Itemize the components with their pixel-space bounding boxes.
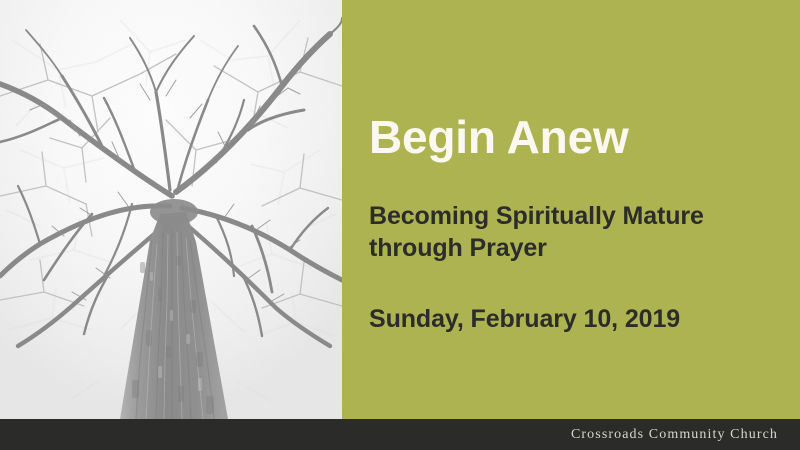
title-content-panel: Begin Anew Becoming Spiritually Mature t… — [342, 0, 800, 419]
church-name: Crossroads Community Church — [571, 427, 778, 443]
sermon-series-title: Begin Anew — [369, 113, 629, 161]
footer-bar: Crossroads Community Church — [0, 419, 800, 450]
bare-tree-looking-up-image — [0, 0, 342, 419]
service-date: Sunday, February 10, 2019 — [369, 303, 680, 335]
sermon-title-slide: Begin Anew Becoming Spiritually Mature t… — [0, 0, 800, 450]
tree-photo-panel — [0, 0, 342, 419]
sermon-subtitle: Becoming Spiritually Mature through Pray… — [369, 200, 789, 264]
